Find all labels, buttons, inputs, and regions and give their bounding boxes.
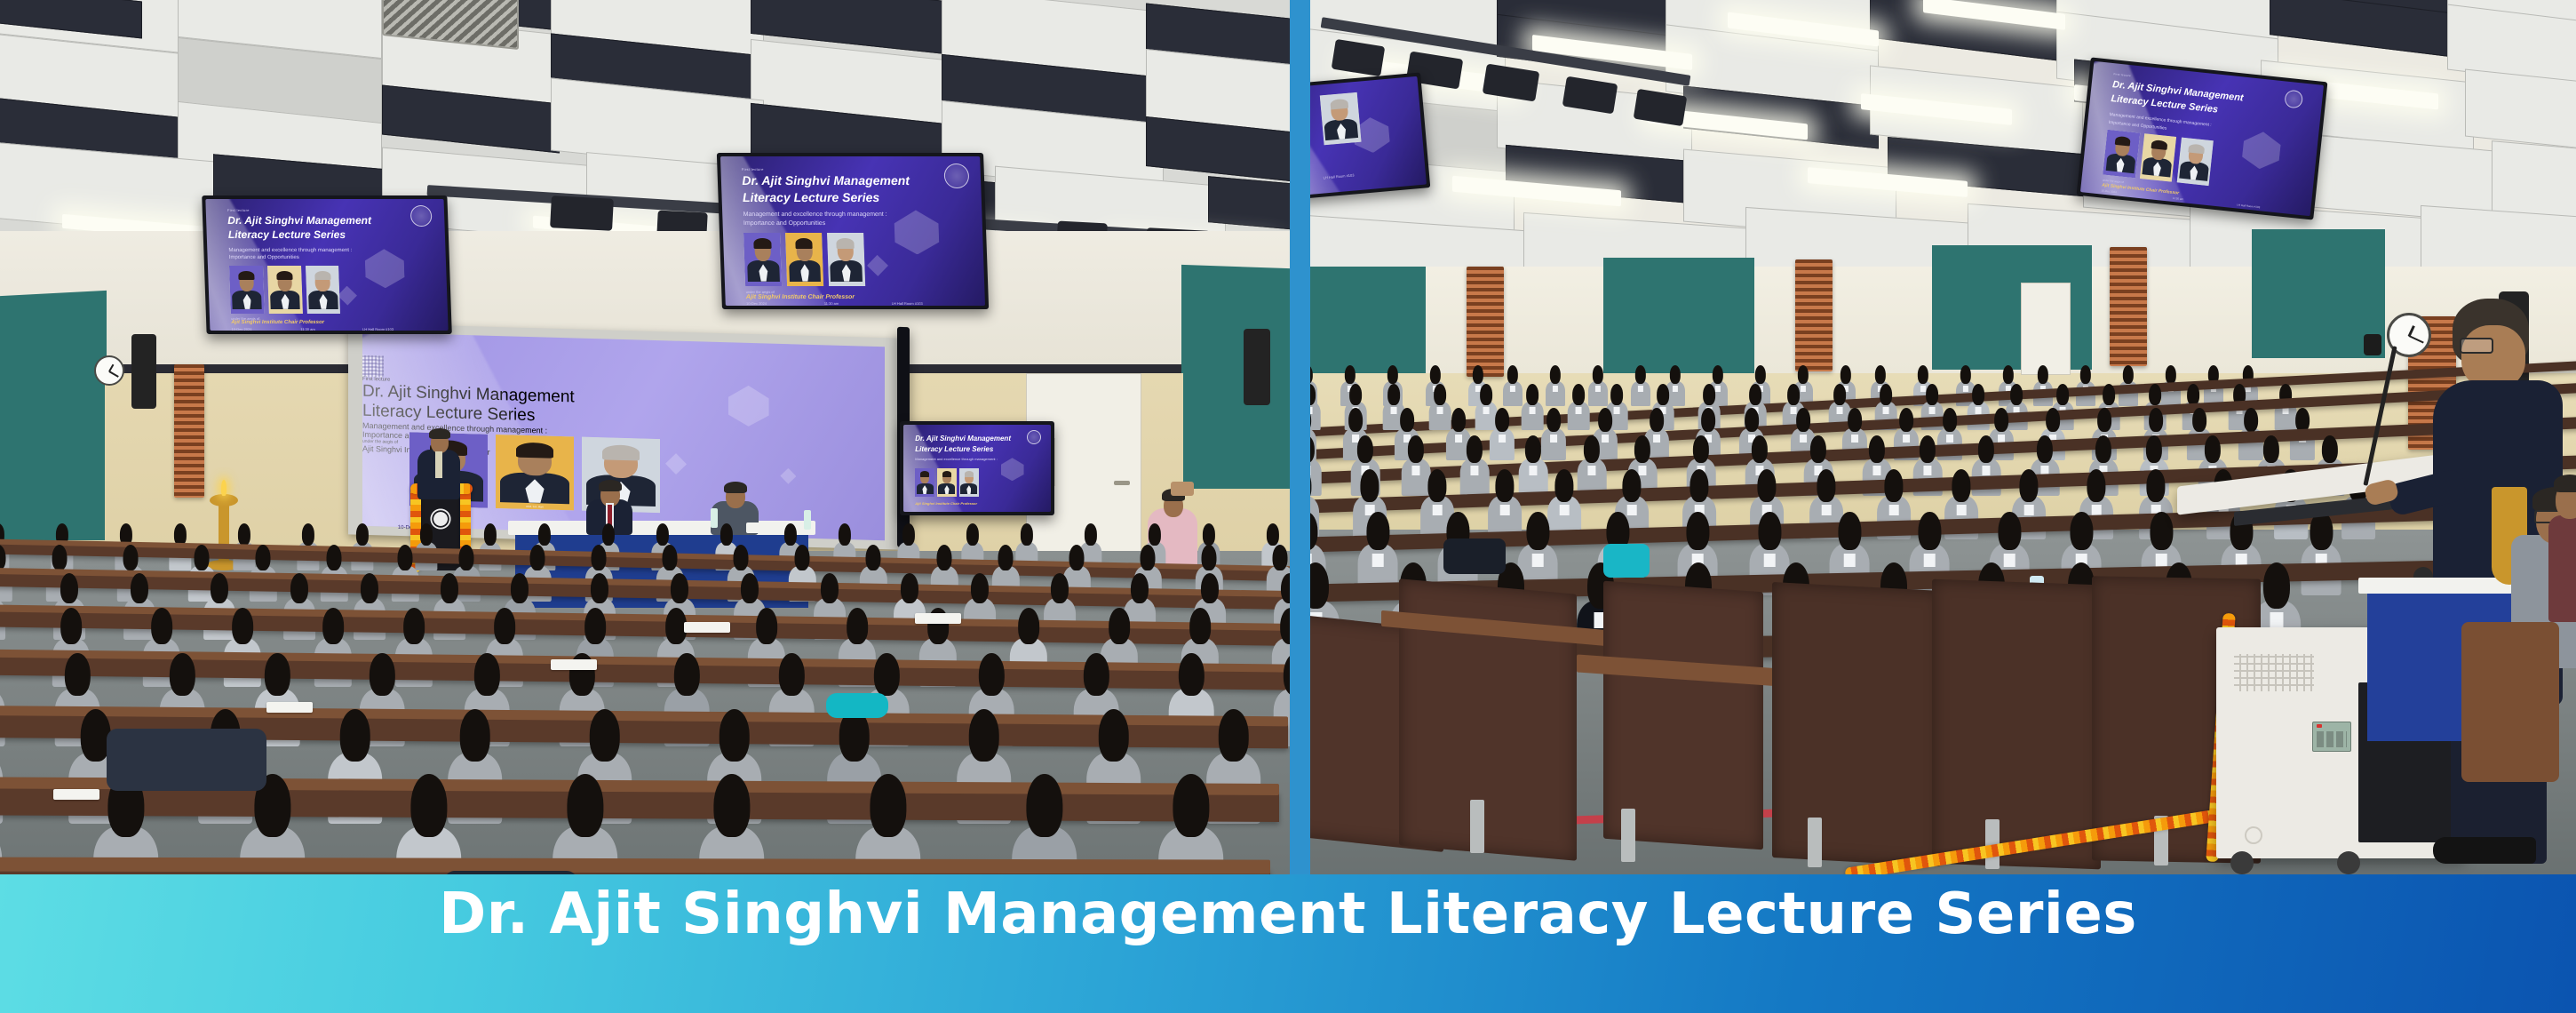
audience-head xyxy=(741,573,759,603)
audience-head xyxy=(1018,608,1039,644)
poster-root: First lecture Dr. Ajit Singhvi Managemen… xyxy=(0,0,2576,1013)
audience-head xyxy=(1149,523,1161,545)
slide-chair-line: Ajit Singhvi Institute Chair Professor xyxy=(231,320,324,325)
shirt-collar xyxy=(1924,466,1932,475)
audience-head xyxy=(1179,653,1204,697)
window-blind xyxy=(1467,267,1504,377)
wall-panel-teal-left xyxy=(0,363,105,540)
audience-face xyxy=(2001,520,2019,547)
audience-member xyxy=(1568,384,1590,430)
photo-left: First lecture Dr. Ajit Singhvi Managemen… xyxy=(0,0,1290,874)
audience-head xyxy=(971,573,989,603)
audience-head xyxy=(567,774,603,837)
audience-head xyxy=(361,573,378,603)
audience-head xyxy=(370,653,394,697)
uniform-blazer xyxy=(1490,428,1515,461)
uniform-blazer xyxy=(1568,402,1590,430)
audience-head xyxy=(1021,523,1033,545)
audience-head xyxy=(1280,608,1290,644)
shirt-collar xyxy=(1412,466,1420,475)
audience-face xyxy=(1574,388,1584,403)
audience-head xyxy=(720,709,751,762)
audience-head xyxy=(821,573,839,603)
audience-face xyxy=(2073,520,2091,547)
audience-head xyxy=(663,545,678,570)
notebook xyxy=(53,789,99,800)
audience-head xyxy=(1281,573,1290,603)
audience-head xyxy=(839,523,851,545)
audience-head xyxy=(232,608,253,644)
audience-head xyxy=(410,774,447,837)
slide-date: 10-Dec 2024 xyxy=(746,301,767,306)
backpack xyxy=(107,729,266,791)
audience-head xyxy=(238,523,250,545)
slide-subtitle-line1: Management and excellence through manage… xyxy=(228,248,352,254)
audience-head xyxy=(1109,608,1130,644)
audience-head xyxy=(123,545,139,570)
shirt-collar xyxy=(1924,554,1936,567)
slide-venue: LH Hall Room #103 xyxy=(2237,203,2260,210)
uniform-blazer xyxy=(1503,381,1523,407)
audience-member xyxy=(2302,512,2341,595)
speaker-headshot xyxy=(827,233,865,286)
desk-top xyxy=(0,857,1270,873)
uniform-blazer xyxy=(1588,381,1608,407)
audience-head xyxy=(441,573,458,603)
audience-head xyxy=(674,653,699,697)
audience-head xyxy=(602,523,615,545)
audience-face xyxy=(1612,388,1622,403)
audience-head xyxy=(591,573,608,603)
photo-divider xyxy=(1290,0,1310,874)
shirt-collar xyxy=(1372,554,1384,567)
audience-head xyxy=(1141,545,1156,570)
audience-face xyxy=(2058,388,2068,403)
audience-head xyxy=(979,653,1004,697)
shirt-collar xyxy=(1500,505,1510,516)
slide-title-line1: Dr. Ajit Singhvi Management xyxy=(227,215,371,227)
wall-speaker xyxy=(1244,329,1270,405)
speaker-headshot xyxy=(2176,138,2213,186)
audience-face xyxy=(2189,388,2198,403)
speaker-headshot xyxy=(785,233,823,286)
uniform-blazer xyxy=(1546,381,1565,407)
audience-head xyxy=(151,608,172,644)
slide-title-line2: Literacy Lecture Series xyxy=(915,446,993,454)
audience-head xyxy=(1201,573,1219,603)
notebook xyxy=(266,702,313,713)
audience-face xyxy=(1351,388,1361,403)
audience-head xyxy=(474,653,499,697)
audience-head xyxy=(713,774,750,837)
audience-face xyxy=(2151,388,2160,403)
shirt-collar xyxy=(2270,612,2283,628)
podium-caster xyxy=(2230,851,2254,874)
audience-head xyxy=(969,709,1000,762)
audience-head xyxy=(779,653,804,697)
audience-face xyxy=(1530,520,1547,547)
slide-eyebrow: First lecture xyxy=(742,167,764,171)
shirt-collar xyxy=(1560,505,1570,516)
audience-head xyxy=(211,573,228,603)
shirt-collar xyxy=(1983,466,1991,475)
slide-subtitle-line1: Management and excellence through manage… xyxy=(743,211,887,219)
audience-head xyxy=(195,545,210,570)
audience-face xyxy=(1310,572,1326,605)
speaker-headshot xyxy=(2103,130,2140,178)
shirt-collar xyxy=(1946,435,1953,443)
audience-head xyxy=(656,523,669,545)
audience-head xyxy=(420,523,433,545)
audience-head xyxy=(870,774,906,837)
wall-panel-teal xyxy=(1603,258,1754,378)
audience-head xyxy=(1051,573,1069,603)
audience-head xyxy=(1099,709,1130,762)
backpack xyxy=(1603,544,1650,578)
speaker-headshot xyxy=(306,266,340,313)
window-blind xyxy=(174,364,204,498)
audience-member xyxy=(1588,365,1608,406)
wall-panel-teal-right xyxy=(1183,355,1290,489)
shirt-collar xyxy=(1510,386,1515,392)
backpack xyxy=(826,693,888,718)
audience-head xyxy=(290,573,308,603)
audience-member xyxy=(1519,435,1548,496)
audience-member xyxy=(1490,408,1515,460)
audience-head xyxy=(784,523,797,545)
wall-tv: Dr. Ajit Singhvi Management Literacy Lec… xyxy=(900,421,1054,515)
audience-face xyxy=(1435,388,1445,403)
audience-head xyxy=(356,523,369,545)
wall-clock xyxy=(94,355,124,386)
audience-face xyxy=(1974,388,1984,403)
speaker-headshot xyxy=(2140,134,2176,182)
slide-venue: LH Hall Room #103 xyxy=(892,301,923,306)
audience-face xyxy=(1363,476,1378,499)
audience-face xyxy=(1881,388,1891,403)
audience-face xyxy=(2153,520,2171,547)
caption-title: Dr. Ajit Singhvi Management Literacy Lec… xyxy=(0,881,2576,947)
audience-face xyxy=(1692,476,1707,499)
audience-head xyxy=(403,608,425,644)
uniform-blazer xyxy=(1631,381,1650,407)
audience-head xyxy=(1203,523,1215,545)
slide-title-line2: Literacy Lecture Series xyxy=(743,191,880,205)
audience-face xyxy=(1799,370,1808,383)
audience-face xyxy=(1919,370,1928,383)
shirt-collar xyxy=(1929,407,1936,414)
shirt-collar xyxy=(1595,386,1601,392)
audience-head xyxy=(584,608,606,644)
speaker-headshot xyxy=(229,266,264,313)
shirt-collar xyxy=(1550,435,1557,443)
ceiling-tv-right: First lecture Dr. Ajit Singhvi Managemen… xyxy=(717,153,989,309)
audience-head xyxy=(1085,523,1097,545)
audience-face xyxy=(1760,476,1775,499)
podium-vent xyxy=(2234,654,2314,691)
audience-head xyxy=(302,523,314,545)
audience-head xyxy=(1131,573,1149,603)
shirt-collar xyxy=(1976,407,1982,414)
notebook xyxy=(915,613,961,624)
audience-face xyxy=(1961,370,1970,383)
audience-face xyxy=(1876,370,1885,383)
audience-head xyxy=(966,523,979,545)
shirt-collar xyxy=(1844,554,1856,567)
backpack xyxy=(1443,538,1506,574)
audience-face xyxy=(1819,476,1834,499)
audience-face xyxy=(1756,370,1765,383)
speaker-at-podium xyxy=(417,427,460,498)
audience-face xyxy=(2313,520,2331,547)
ceiling-tv-far: LH Hall Room #103 xyxy=(1310,73,1430,203)
audience-face xyxy=(1431,370,1440,383)
audience-face xyxy=(1370,520,1387,547)
audience-head xyxy=(256,545,271,570)
microphone-head-icon xyxy=(2364,334,2381,355)
audience-face xyxy=(1705,388,1714,403)
shirt-collar xyxy=(1638,386,1643,392)
audience-face xyxy=(1474,370,1483,383)
audience-face xyxy=(1658,388,1668,403)
shirt-collar xyxy=(1957,505,1967,516)
seated-dignitary-far xyxy=(2548,473,2576,624)
audience-face xyxy=(1389,388,1399,403)
audience-head xyxy=(52,545,68,570)
speaker-headshot xyxy=(915,468,934,497)
audience-head xyxy=(530,545,545,570)
audience-face xyxy=(1690,520,1707,547)
audience-member xyxy=(1578,435,1607,496)
audience-head xyxy=(484,523,497,545)
audience-face xyxy=(2004,370,2013,383)
audience-face xyxy=(2081,370,2090,383)
notebook xyxy=(684,622,730,633)
audience-member xyxy=(1546,365,1565,406)
uniform-blazer xyxy=(1460,459,1490,496)
audience-face xyxy=(1482,388,1491,403)
slide-time: 11:30 am xyxy=(300,327,315,331)
slide-chair-line: Ajit Singhvi Institute Chair Professor xyxy=(746,294,855,300)
audience-face xyxy=(2012,388,2022,403)
caption-bar: Dr. Ajit Singhvi Management Literacy Lec… xyxy=(0,874,2576,1013)
audience-face xyxy=(1928,388,1937,403)
audience-face xyxy=(1921,520,1939,547)
slide-venue: LH Hall Room #103 xyxy=(362,327,394,331)
audience-face xyxy=(1887,476,1902,499)
audience-head xyxy=(590,709,621,762)
audience-head xyxy=(60,608,82,644)
audience-head xyxy=(1084,653,1109,697)
audience-face xyxy=(2266,572,2287,605)
audience-head xyxy=(592,545,607,570)
audience-face xyxy=(1625,476,1640,499)
eyeglasses-icon xyxy=(2460,338,2493,354)
audience-member xyxy=(1631,365,1650,406)
window-blind xyxy=(2110,247,2147,366)
audience-face xyxy=(2167,370,2175,383)
audience-face xyxy=(1713,370,1722,383)
audience-face xyxy=(2104,388,2114,403)
audience-head xyxy=(131,573,148,603)
audience-head xyxy=(398,545,413,570)
audience-face xyxy=(1841,520,1859,547)
audience-head xyxy=(1219,709,1250,762)
shirt-collar xyxy=(1889,505,1899,516)
audience-head xyxy=(60,573,78,603)
shirt-collar xyxy=(1576,407,1582,414)
ceiling-tv-near: First lecture Dr. Ajit Singhvi Managemen… xyxy=(2077,57,2328,219)
name-plate xyxy=(746,522,782,533)
water-bottle xyxy=(804,510,811,530)
audience-head xyxy=(511,573,529,603)
shirt-collar xyxy=(1530,407,1536,414)
audience-face xyxy=(1789,388,1799,403)
notebook xyxy=(551,659,597,670)
audience-member xyxy=(1522,384,1544,430)
audience-head xyxy=(795,545,810,570)
speaker-headshot xyxy=(267,266,302,313)
speaker-headshot xyxy=(1319,92,1361,146)
ceiling-projector xyxy=(550,195,614,231)
audience-head xyxy=(937,545,952,570)
audience-head xyxy=(756,608,777,644)
audience-face xyxy=(2022,476,2037,499)
audience-head xyxy=(322,608,344,644)
audience-face xyxy=(1528,388,1538,403)
audience-head xyxy=(1173,774,1209,837)
wall-speaker xyxy=(131,334,156,409)
audience-head xyxy=(874,653,899,697)
audience-head xyxy=(847,608,868,644)
speaker-headshot xyxy=(743,233,782,286)
speaker-headshot xyxy=(937,468,957,497)
slide-time: 11:30 am xyxy=(824,301,839,306)
audience-head xyxy=(671,573,688,603)
audience-head xyxy=(866,545,881,570)
shirt-collar xyxy=(1883,407,1889,414)
audience-head xyxy=(734,545,749,570)
lamp-flame xyxy=(221,480,227,496)
speaker-headshot: Prof. S.K. Rari xyxy=(496,435,574,510)
audience-face xyxy=(1508,370,1517,383)
audience-member xyxy=(1488,469,1522,539)
audience-head xyxy=(1273,545,1288,570)
wall-panel-light xyxy=(2021,283,2071,375)
uniform-blazer xyxy=(1522,402,1544,430)
slide-title-line2: Literacy Lecture Series xyxy=(228,229,346,241)
audience-face xyxy=(2039,370,2047,383)
audience-head xyxy=(460,709,491,762)
audience-member xyxy=(2033,365,2053,406)
audience-head xyxy=(998,545,1014,570)
phone-icon xyxy=(1171,482,1194,496)
audience-member xyxy=(1460,435,1490,496)
audience-face xyxy=(1636,370,1645,383)
audience-face xyxy=(1557,476,1572,499)
audience-head xyxy=(1026,774,1062,837)
audience-face xyxy=(1346,370,1355,383)
shirt-collar xyxy=(1499,435,1506,443)
audience-face xyxy=(1594,370,1602,383)
audience-head xyxy=(1202,545,1217,570)
slide-eyebrow: First lecture xyxy=(227,208,250,212)
audience-head xyxy=(901,573,918,603)
podium-caster xyxy=(2337,851,2360,874)
audience-head xyxy=(170,653,195,697)
audience-head xyxy=(1267,523,1279,545)
audience-face xyxy=(1841,370,1850,383)
podium-handle-icon xyxy=(2245,826,2262,844)
audience-head xyxy=(459,545,474,570)
shirt-collar xyxy=(1553,386,1558,392)
audience-head xyxy=(265,653,290,697)
wooden-armchair xyxy=(2461,622,2559,782)
audience-head xyxy=(340,709,371,762)
speaker-shoes xyxy=(2433,837,2536,864)
slide-title-line1: Dr. Ajit Singhvi Management xyxy=(742,174,910,188)
slide-subtitle-line2: Importance and Opportunities xyxy=(229,255,299,261)
audience-head xyxy=(1069,545,1085,570)
brass-lamp-bowl xyxy=(210,494,238,506)
audience-face xyxy=(2124,370,2133,383)
shirt-collar xyxy=(1530,466,1538,475)
photo-right: LH Hall Room #103 First lecture Dr. Ajit… xyxy=(1310,0,2576,874)
shirt-collar xyxy=(1437,407,1443,414)
audience-head xyxy=(327,545,342,570)
shirt-collar xyxy=(1903,435,1910,443)
shirt-collar xyxy=(1588,466,1596,475)
audience-head xyxy=(720,523,733,545)
speaker-headshot xyxy=(959,468,979,497)
shirt-collar xyxy=(1851,435,1858,443)
window-blind xyxy=(1795,259,1833,371)
shirt-collar xyxy=(1471,466,1479,475)
shirt-collar xyxy=(1483,407,1490,414)
bench-panel xyxy=(1932,579,2101,870)
audience-face xyxy=(2149,476,2164,499)
uniform-blazer xyxy=(1519,459,1548,496)
audience-face xyxy=(1430,476,1445,499)
audience-face xyxy=(1835,388,1845,403)
wall-panel-teal xyxy=(1310,267,1426,382)
audience-face xyxy=(1751,388,1761,403)
ceiling-tv-left: First lecture Dr. Ajit Singhvi Managemen… xyxy=(202,195,452,334)
audience-head xyxy=(65,653,90,697)
slide-chair-line: Ajit Singhvi Institute Chair Professor xyxy=(915,501,977,506)
audience-face xyxy=(1551,370,1560,383)
slide-subtitle-line1: Management and excellence through manage… xyxy=(915,458,998,462)
audience-member xyxy=(1503,365,1523,406)
audience-face xyxy=(1671,370,1680,383)
bench-panel xyxy=(1772,582,1941,866)
audience-face xyxy=(1761,520,1779,547)
audience-face xyxy=(2089,476,2104,499)
audience-head xyxy=(538,523,551,545)
slide-title-line1: Dr. Ajit Singhvi Management xyxy=(915,435,1011,443)
audience-head xyxy=(494,608,515,644)
slide-subtitle-line2: Importance and Opportunities xyxy=(743,220,826,227)
audience-head xyxy=(1189,608,1211,644)
audience-head xyxy=(902,523,915,545)
podium-keypad xyxy=(2312,722,2351,752)
audience-face xyxy=(1388,370,1397,383)
audience-face xyxy=(1954,476,1969,499)
audience-face xyxy=(1498,476,1513,499)
slide-date: 10-Dec 2024 xyxy=(231,327,251,331)
